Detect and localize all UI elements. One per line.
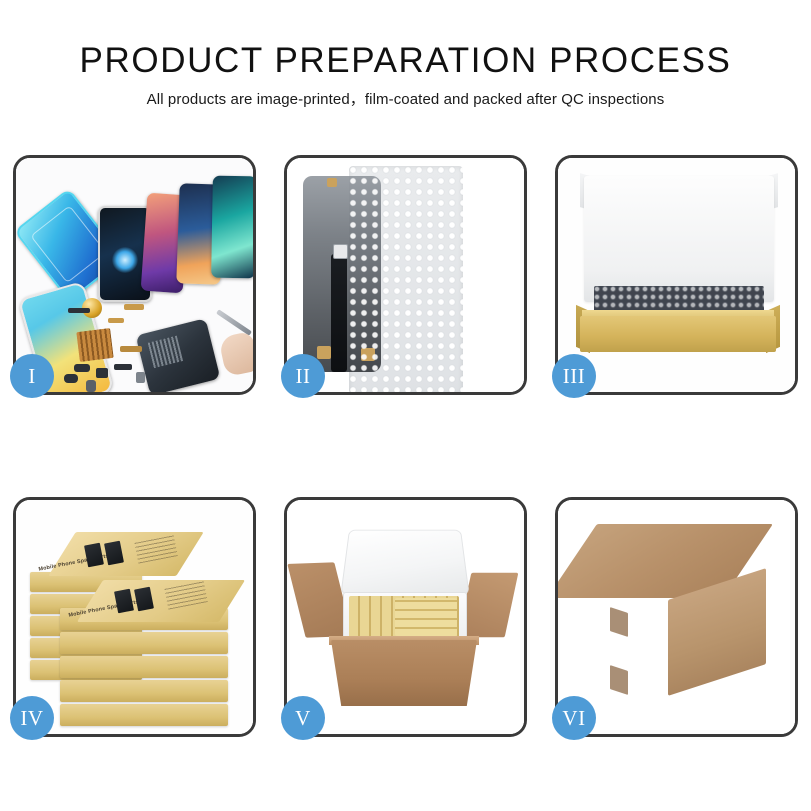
process-step-3[interactable]: III xyxy=(555,155,798,395)
gold-box xyxy=(60,680,228,702)
small-part xyxy=(108,318,124,323)
flex-cable xyxy=(331,254,347,372)
small-part xyxy=(114,364,132,370)
chip-array-part xyxy=(76,328,113,362)
process-step-6[interactable]: VI xyxy=(555,497,798,737)
stacked-boxes-photo: Mobile Phone Spare Parts Mobile Phone Sp… xyxy=(16,500,253,734)
bubble-wrap-photo xyxy=(287,158,524,392)
process-step-1[interactable]: I xyxy=(13,155,256,395)
small-part xyxy=(86,380,96,392)
gold-box xyxy=(60,632,228,654)
product-preparation-infographic: PRODUCT PREPARATION PROCESS All products… xyxy=(0,0,811,811)
gold-box-top-face xyxy=(48,532,203,576)
page-title: PRODUCT PREPARATION PROCESS xyxy=(0,42,811,81)
contact-pad xyxy=(361,348,375,361)
small-part xyxy=(124,304,144,310)
small-part xyxy=(74,364,90,372)
foam-box-lid xyxy=(340,530,469,595)
step-badge-4: IV xyxy=(10,696,54,740)
header: PRODUCT PREPARATION PROCESS All products… xyxy=(0,0,811,109)
phone-parts-photo xyxy=(16,158,253,392)
process-step-4[interactable]: Mobile Phone Spare Parts Mobile Phone Sp… xyxy=(13,497,256,737)
small-part xyxy=(96,368,108,378)
foam-carton-photo xyxy=(287,500,524,734)
step-badge-6: VI xyxy=(552,696,596,740)
process-step-5[interactable]: V xyxy=(284,497,527,737)
small-part xyxy=(68,308,90,313)
step-badge-3: III xyxy=(552,354,596,398)
phone-display-teal xyxy=(211,176,253,279)
gold-box-open-photo xyxy=(558,158,795,392)
connector-chip xyxy=(333,244,348,259)
small-part xyxy=(120,346,142,352)
sealed-carton-photo xyxy=(558,500,795,734)
box-lid xyxy=(584,176,774,302)
step-badge-5: V xyxy=(281,696,325,740)
gold-box-body xyxy=(580,316,776,352)
small-part xyxy=(136,372,145,383)
gold-boxes-inside xyxy=(395,598,457,636)
gold-box xyxy=(60,704,228,726)
contact-pad xyxy=(327,178,337,187)
step-badge-1: I xyxy=(10,354,54,398)
carton-body xyxy=(331,640,477,706)
page-subtitle: All products are image-printed，film-coat… xyxy=(0,91,811,109)
contact-pad xyxy=(317,346,331,359)
process-step-2[interactable]: II xyxy=(284,155,527,395)
small-part xyxy=(64,374,78,383)
step-badge-2: II xyxy=(281,354,325,398)
process-step-grid: I II xyxy=(13,155,798,737)
gold-box xyxy=(60,656,228,678)
gold-box-top-face xyxy=(77,580,245,622)
